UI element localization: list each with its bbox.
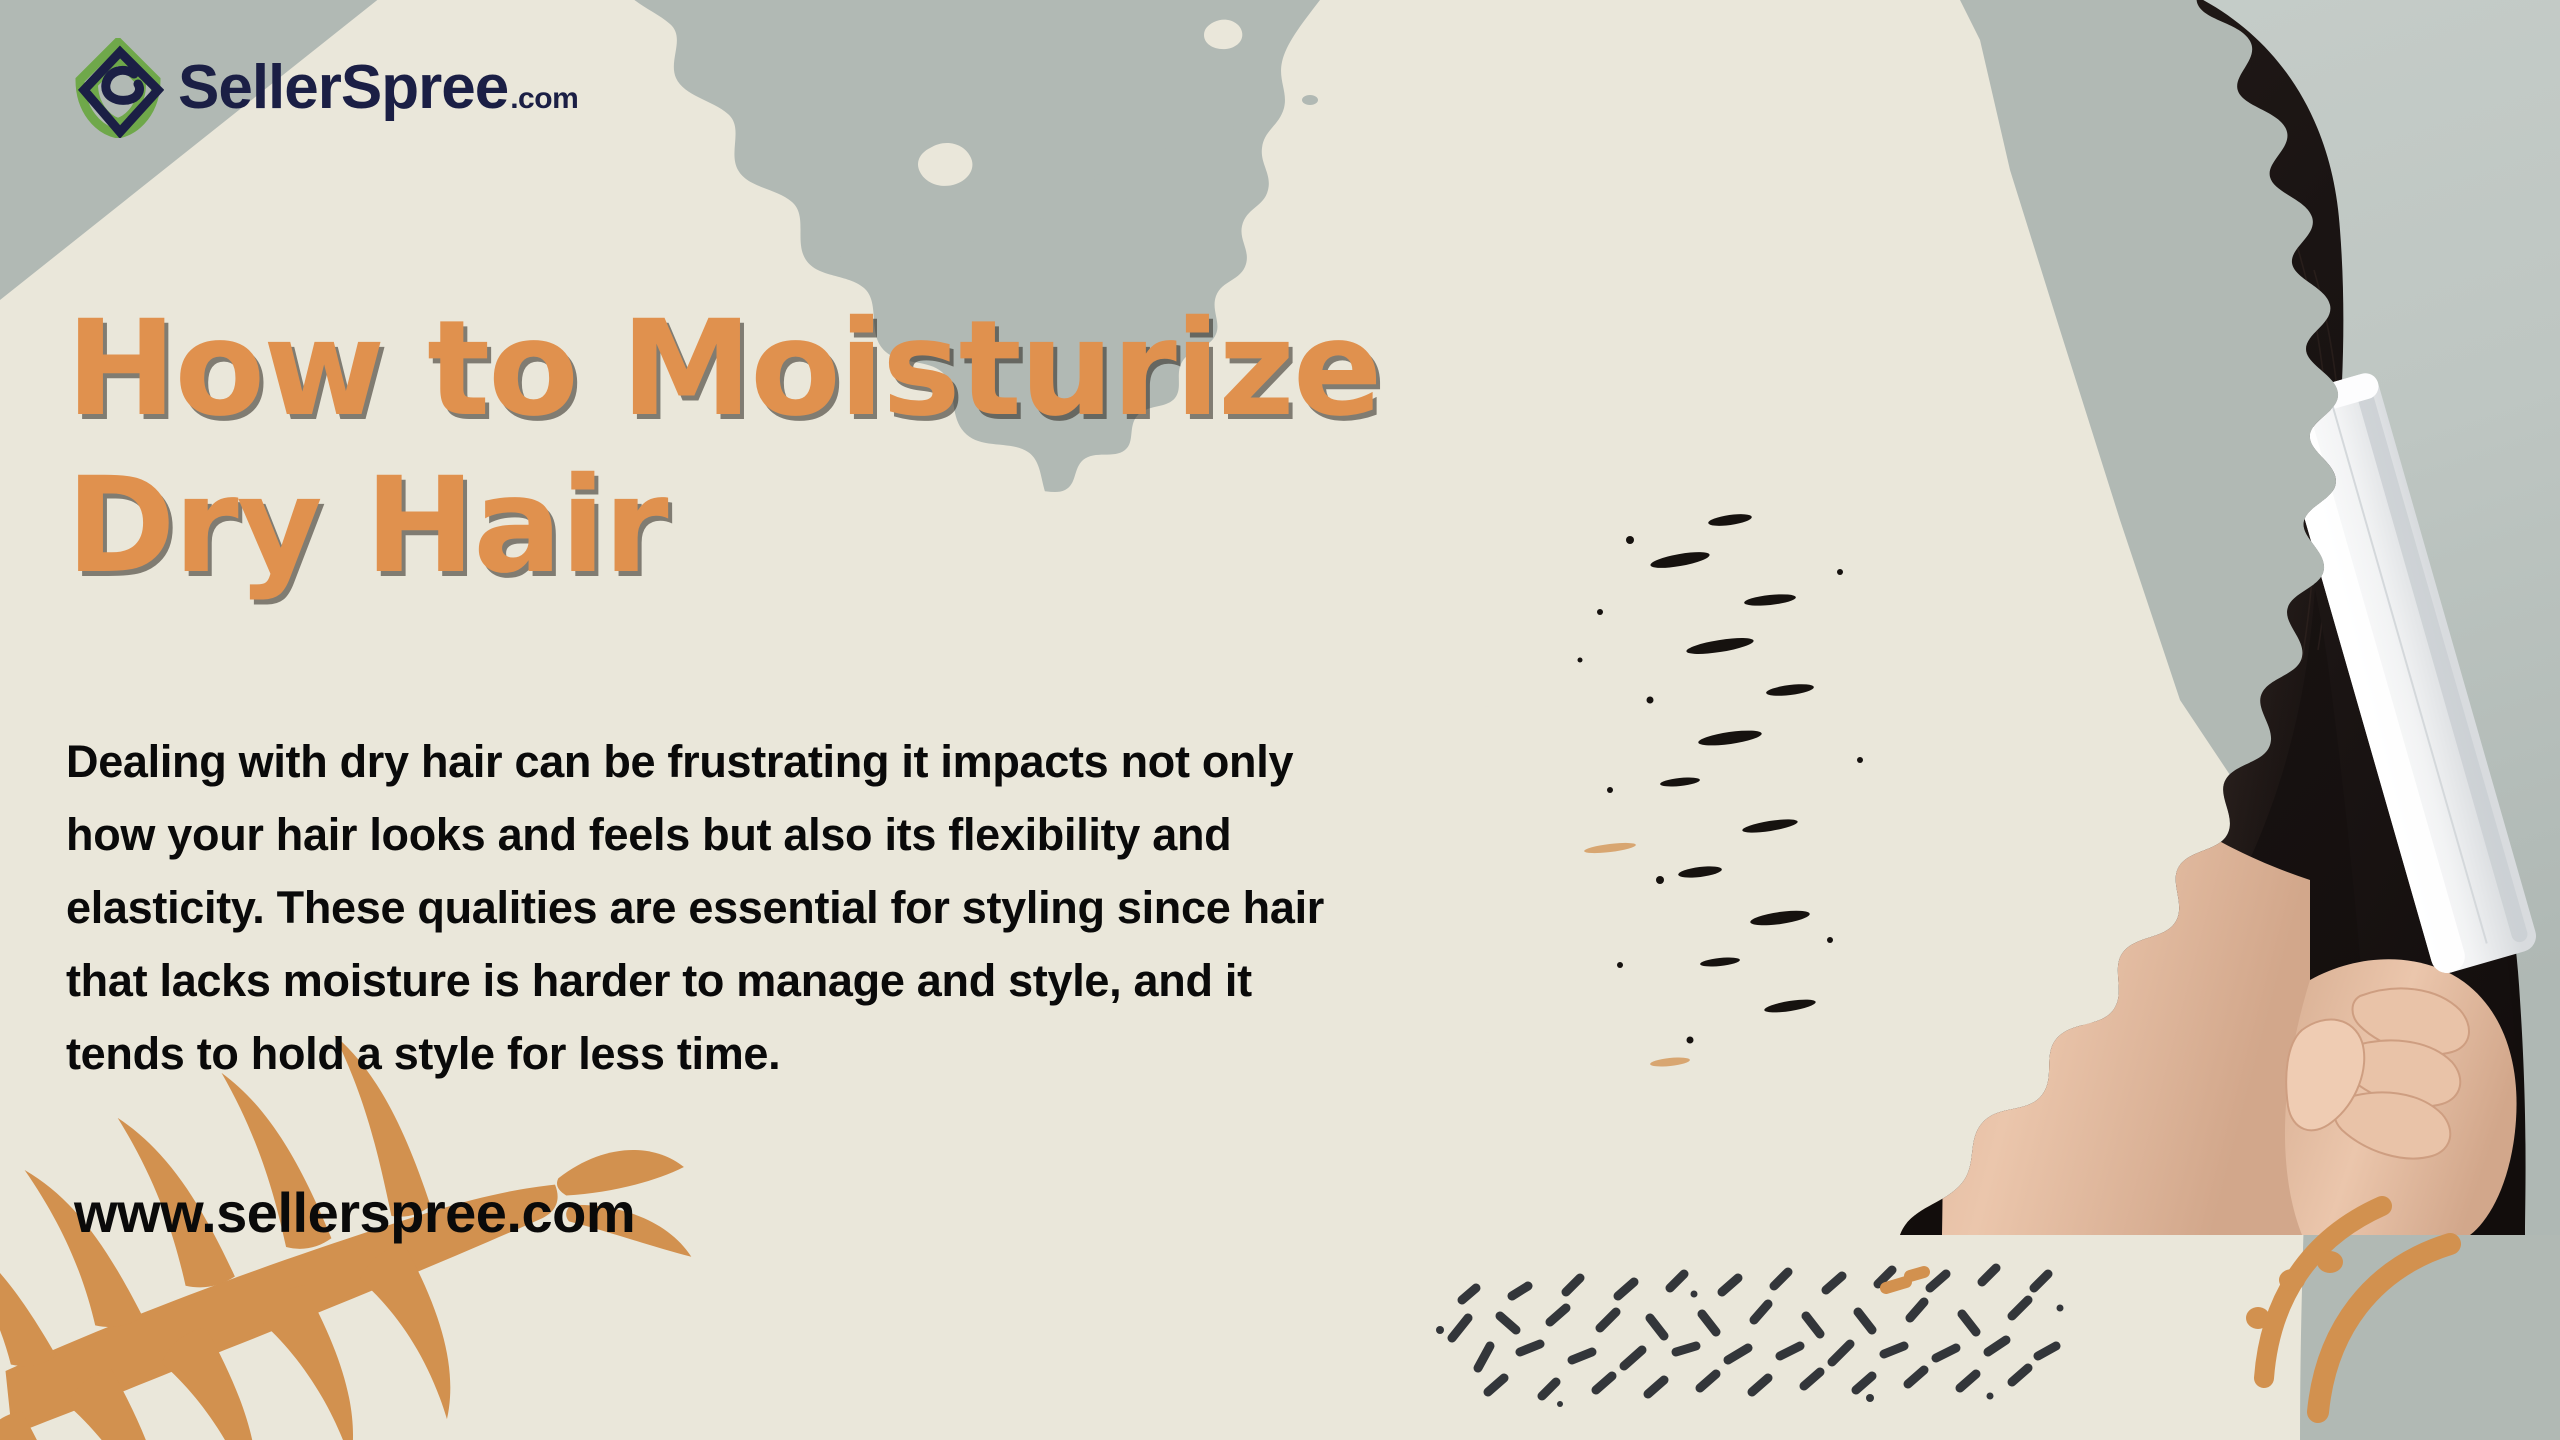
brand-name: SellerSpree (178, 57, 508, 119)
brand-tld: .com (510, 84, 578, 114)
headline-line-1: How to Moisturize (66, 300, 1466, 439)
leaf-monogram-icon (72, 38, 164, 138)
poster-canvas: SellerSpree .com How to Moisturize Dry H… (0, 0, 2560, 1440)
headline: How to Moisturize Dry Hair (66, 300, 1466, 595)
body-paragraph: Dealing with dry hair can be frustrating… (66, 726, 1356, 1090)
speckle-band-decor (1452, 1268, 2056, 1396)
brand-logo[interactable]: SellerSpree .com (72, 38, 578, 138)
arc-swoosh-decor (2264, 1206, 2450, 1412)
body-copy: Dealing with dry hair can be frustrating… (66, 726, 1356, 1090)
headline-line-2: Dry Hair (66, 457, 1466, 596)
website-url[interactable]: www.sellerspree.com (74, 1180, 635, 1245)
